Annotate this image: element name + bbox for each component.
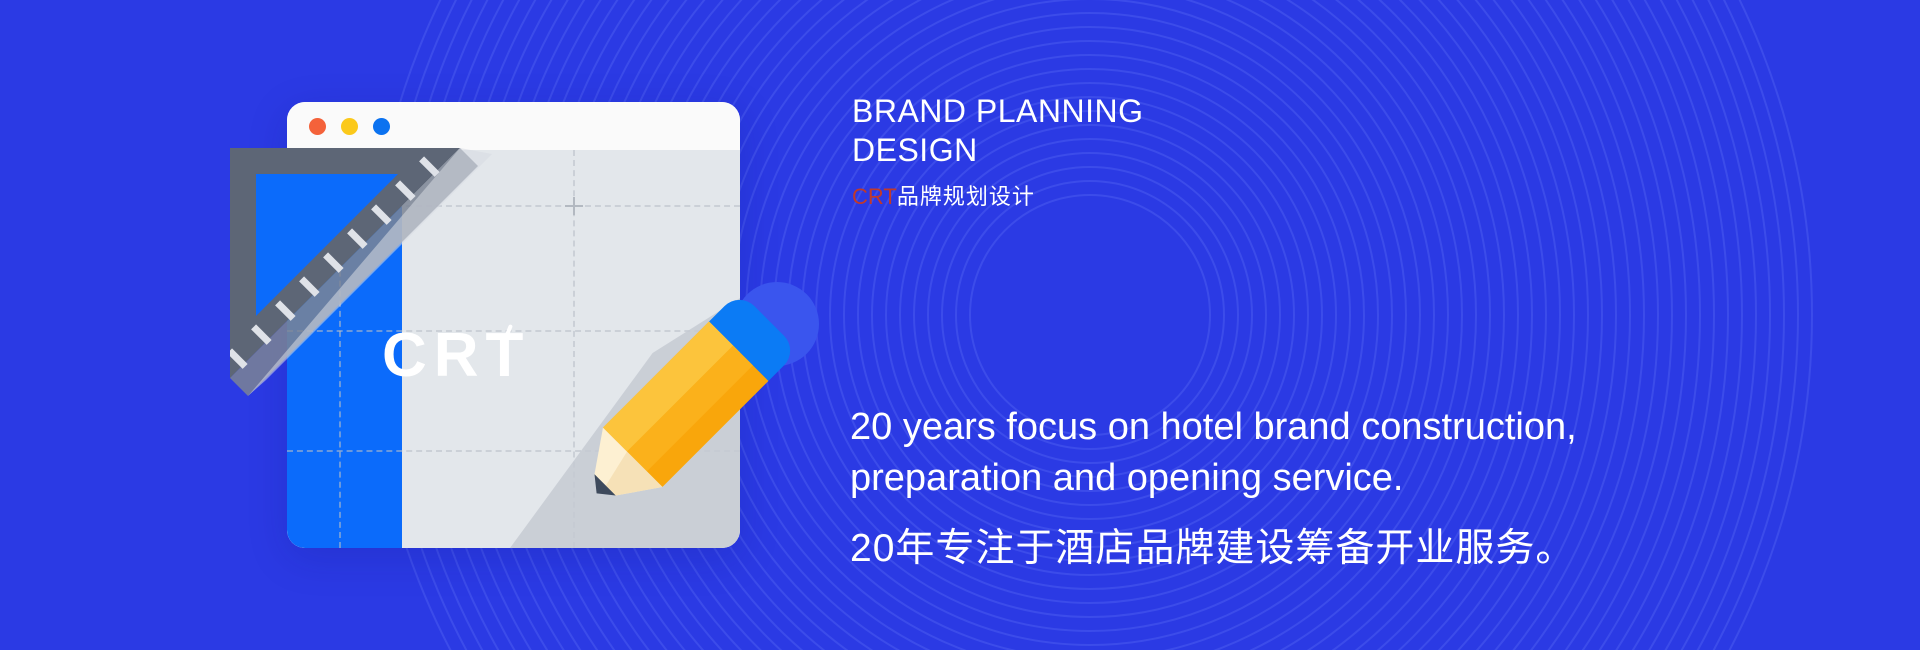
brand-illustration: CRT xyxy=(0,0,900,650)
brand-banner: CRT xyxy=(0,0,1920,650)
maximize-dot xyxy=(373,118,390,135)
brand-name: CRT xyxy=(852,184,897,209)
tagline-chinese: 20年专注于酒店品牌建设筹备开业服务。 xyxy=(850,517,1680,573)
minimize-dot xyxy=(341,118,358,135)
page-title: BRAND PLANNING DESIGN xyxy=(852,92,1472,171)
pencil-icon xyxy=(560,280,810,535)
browser-titlebar xyxy=(287,102,740,150)
subtitle-cn: CRT品牌规划设计 xyxy=(852,179,1472,211)
triangle-ruler-icon xyxy=(230,148,520,418)
tagline-block: 20 years focus on hotel brand constructi… xyxy=(850,402,1680,573)
headline-block: BRAND PLANNING DESIGN CRT品牌规划设计 xyxy=(852,92,1472,211)
close-dot xyxy=(309,118,326,135)
subtitle-cn-text: 品牌规划设计 xyxy=(897,184,1035,209)
tagline-english: 20 years focus on hotel brand constructi… xyxy=(850,402,1680,503)
guide-cross xyxy=(565,197,583,215)
